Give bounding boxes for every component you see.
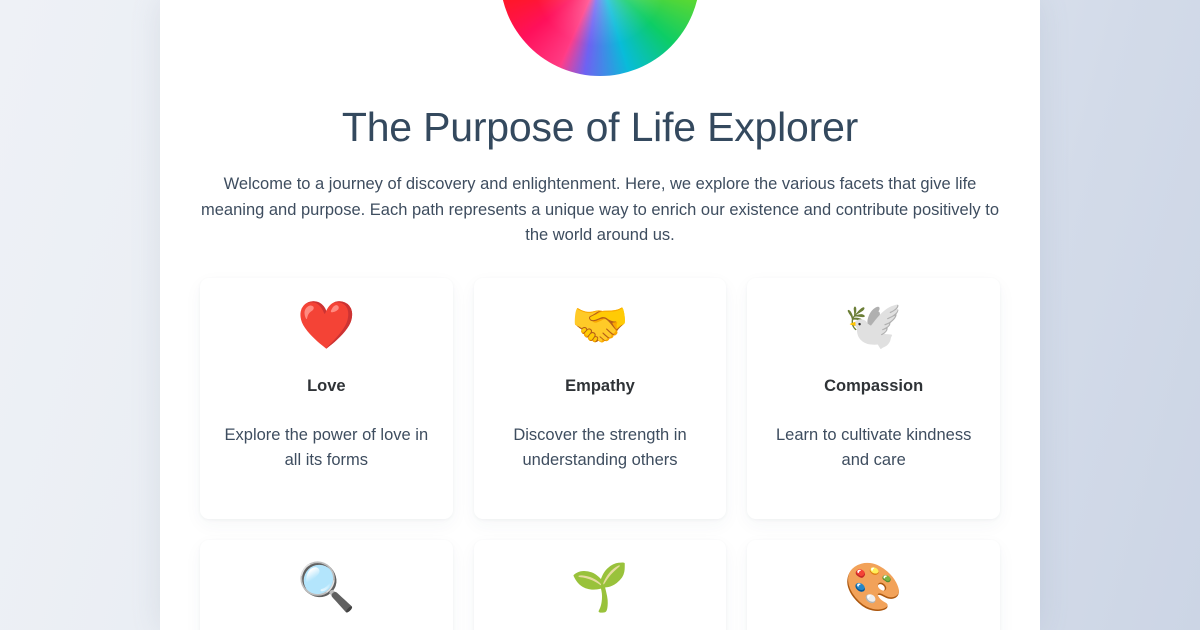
artist-palette-icon: 🎨 bbox=[765, 560, 982, 616]
facet-card-love[interactable]: ❤️ Love Explore the power of love in all… bbox=[200, 278, 453, 519]
facet-card-title: Compassion bbox=[765, 375, 982, 397]
facet-card-empathy[interactable]: 🤝 Empathy Discover the strength in under… bbox=[474, 278, 727, 519]
facet-card-description: Discover the strength in understanding o… bbox=[492, 423, 709, 473]
facet-card-personal-growth[interactable]: 🌱 Personal Growth bbox=[474, 540, 727, 630]
dove-icon: 🕊️ bbox=[765, 298, 982, 354]
facet-card-curiosity[interactable]: 🔍 Curiosity bbox=[200, 540, 453, 630]
rainbow-gradient-orb-icon bbox=[500, 0, 700, 76]
handshake-icon: 🤝 bbox=[492, 298, 709, 354]
facet-card-description: Explore the power of love in all its for… bbox=[218, 423, 435, 473]
facet-card-creativity[interactable]: 🎨 Creativity bbox=[747, 540, 1000, 630]
facet-card-description: Learn to cultivate kindness and care bbox=[765, 423, 982, 473]
intro-paragraph: Welcome to a journey of discovery and en… bbox=[200, 172, 1000, 249]
hero-orb-container bbox=[160, 0, 1040, 90]
content-container: The Purpose of Life Explorer Welcome to … bbox=[160, 0, 1040, 630]
page-root: The Purpose of Life Explorer Welcome to … bbox=[0, 0, 1200, 630]
seedling-icon: 🌱 bbox=[492, 560, 709, 616]
red-heart-icon: ❤️ bbox=[218, 298, 435, 354]
facet-card-title: Love bbox=[218, 375, 435, 397]
magnifying-glass-icon: 🔍 bbox=[218, 560, 435, 616]
facet-card-grid: ❤️ Love Explore the power of love in all… bbox=[200, 278, 1000, 630]
page-title: The Purpose of Life Explorer bbox=[160, 100, 1040, 154]
facet-card-compassion[interactable]: 🕊️ Compassion Learn to cultivate kindnes… bbox=[747, 278, 1000, 519]
facet-card-title: Empathy bbox=[492, 375, 709, 397]
